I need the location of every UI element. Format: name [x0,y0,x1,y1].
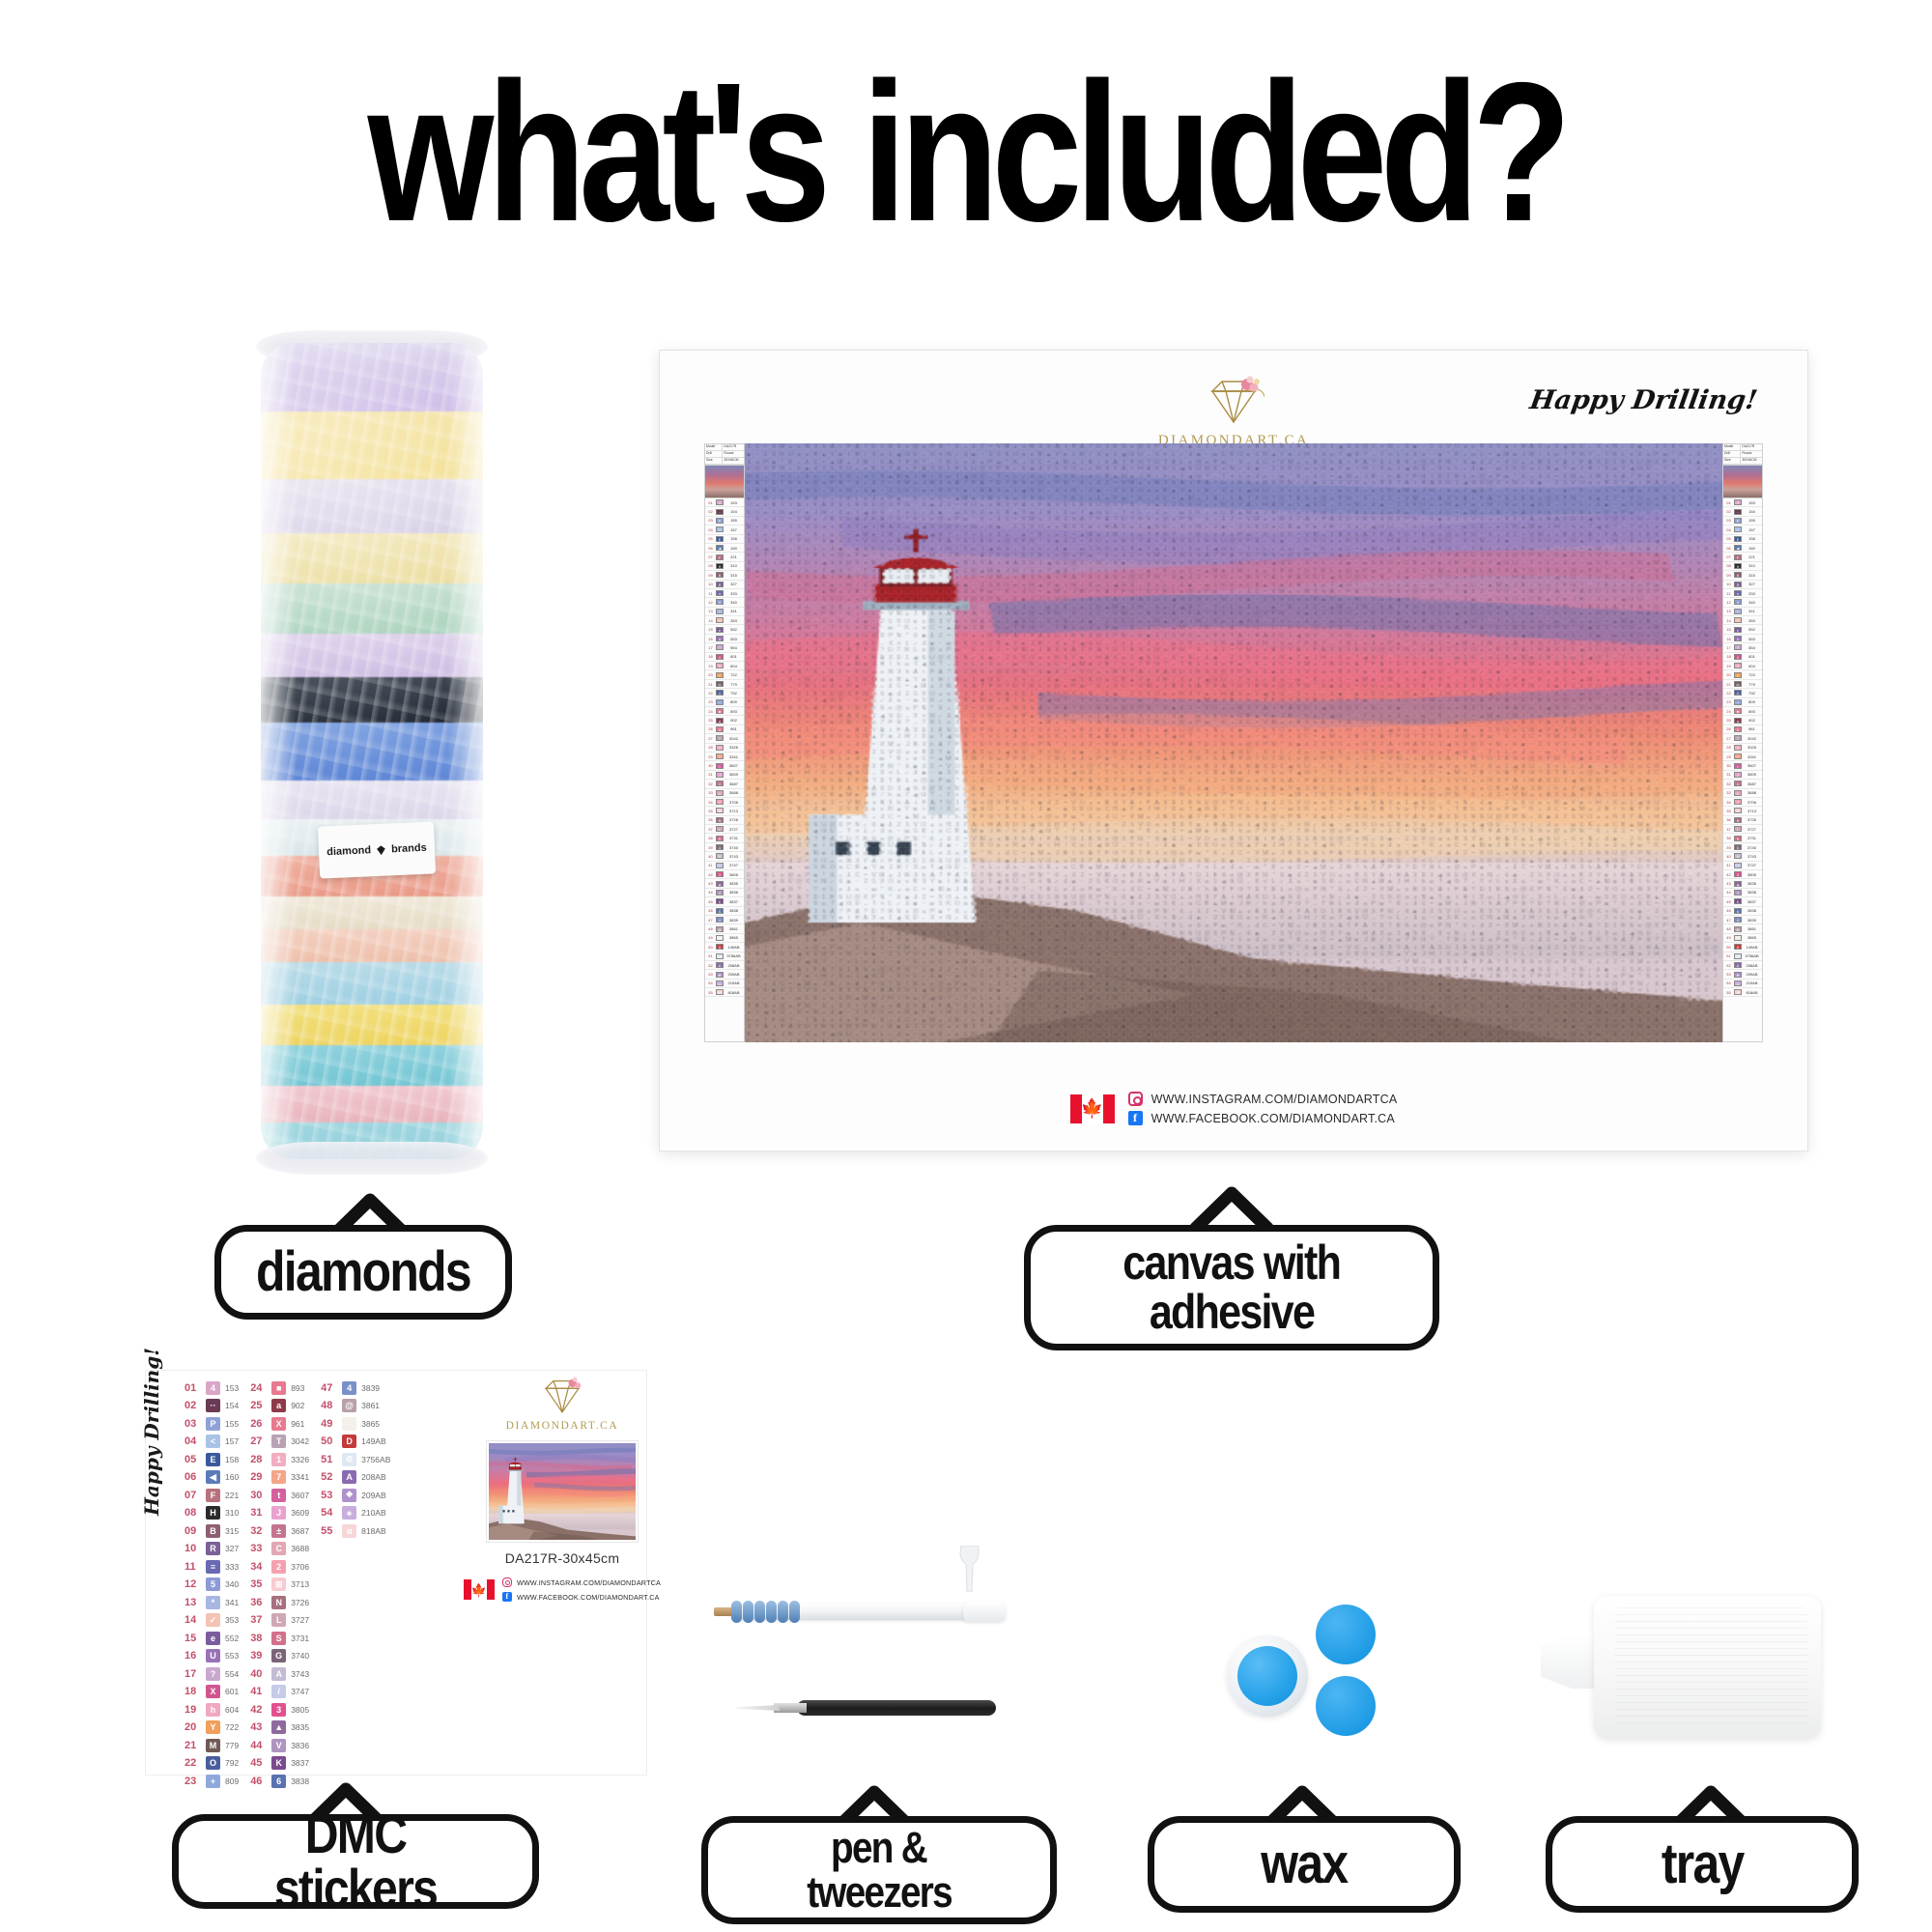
legend-row-swatch: ◀ [1734,545,1742,551]
dmc-row-code: 310 [225,1508,239,1518]
canvas-legend-row: 51⊘3756AB [705,952,744,961]
dmc-row-code: 340 [225,1579,239,1589]
legend-row-swatch: ⊘ [1734,953,1742,959]
legend-row-number: 25 [1723,718,1734,723]
legend-row-number: 52 [705,963,716,968]
canvas-legend-row: 55α818AB [705,988,744,997]
dmc-sticker-row: 18X601 [185,1685,239,1699]
legend-row-swatch: X [1734,654,1742,660]
canvas-legend-row: 33C3688 [1723,789,1762,798]
dmc-row-symbol-swatch: ? [206,1667,220,1681]
dmc-preview-image [487,1441,638,1542]
legend-row-swatch: ■ [1734,708,1742,714]
legend-row-swatch: - [716,935,724,941]
dmc-sticker-row: 32±3687 [250,1523,309,1538]
dmc-sticker-row: 014153 [185,1380,239,1395]
dmc-sticker-row: 03P155 [185,1416,239,1431]
canvas-legend-row: 54⚹210AB [705,980,744,988]
legend-row-swatch: ? [1734,644,1742,650]
legend-row-code: 3326 [724,745,744,750]
legend-row-code: 3688 [1742,790,1762,795]
dmc-row-number: 44 [250,1740,267,1751]
legend-row-code: 3688 [724,790,744,795]
legend-row-swatch: / [1734,863,1742,868]
legend-row-swatch: O [1734,690,1742,696]
dmc-sticker-row: 51⊘3756AB [321,1452,390,1466]
instagram-url: WWW.INSTAGRAM.COM/DIAMONDARTCA [1151,1093,1398,1106]
legend-row-number: 17 [705,645,716,650]
dmc-row-code: 153 [225,1383,239,1393]
legend-row-swatch: ± [1734,781,1742,786]
dmc-row-symbol-swatch: B [206,1524,220,1538]
dmc-row-code: 210AB [361,1508,386,1518]
legend-row-code: 3687 [724,781,744,786]
legend-row-number: 19 [1723,664,1734,668]
canvas-legend-row: 2973341 [705,753,744,761]
canvas-legend-row: 19h604 [1723,662,1762,670]
legend-row-swatch: 4 [1734,917,1742,923]
legend-row-swatch: ⊞ [716,808,724,813]
legend-row-number: 18 [1723,654,1734,659]
canvas-legend-row: 50D149AB [1723,943,1762,952]
legend-row-swatch: T [716,735,724,741]
legend-row-number: 53 [1723,972,1734,977]
legend-row-code: 893 [1742,709,1762,714]
legend-row-code: 722 [1742,672,1762,677]
legend-row-swatch: ✓ [716,617,724,623]
legend-row-number: 08 [1723,563,1734,568]
canvas-legend-row: 15e552 [705,625,744,634]
legend-row-number: 22 [1723,691,1734,696]
canvas-legend-row: 09B315 [1723,571,1762,580]
instagram-link[interactable]: WWW.INSTAGRAM.COM/DIAMONDARTCA [1128,1092,1398,1106]
legend-row-number: 23 [705,699,716,704]
legend-row-number: 42 [705,872,716,877]
dmc-row-symbol-swatch: ❖ [342,1489,356,1502]
canvas-legend-row: 2973341 [1723,753,1762,761]
legend-row-code: 340 [1742,600,1762,605]
dmc-row-symbol-swatch: ▲ [271,1720,286,1734]
legend-row-swatch: H [716,563,724,569]
legend-row-code: 341 [724,609,744,613]
legend-row-swatch: e [716,627,724,633]
dmc-row-number: 15 [185,1633,201,1644]
legend-row-code: 3805 [1742,872,1762,877]
dmc-sticker-row: 16U553 [185,1649,239,1663]
legend-row-code: 153 [724,500,744,505]
dmc-sticker-row: 02··154 [185,1399,239,1413]
callout-pen-label-line2: tweezers [807,1870,952,1915]
legend-row-swatch: ⊞ [1734,808,1742,813]
canvas-legend-row: 4743839 [705,916,744,924]
legend-row-swatch: X [716,654,724,660]
dmc-row-code: 3341 [291,1472,309,1482]
dmc-sticker-row: 53❖209AB [321,1488,390,1502]
legend-row-code: 553 [724,637,744,641]
legend-row-code: 155 [1742,518,1762,523]
dmc-sticker-row: 44V3836 [250,1738,309,1752]
legend-row-swatch: K [716,898,724,904]
canvas-legend-row: 36N3726 [1723,816,1762,825]
dmc-row-symbol-swatch: + [206,1775,220,1788]
facebook-link[interactable]: f WWW.FACEBOOK.COM/DIAMONDART.CA [1128,1111,1398,1125]
legend-row-swatch: h [1734,663,1742,668]
dmc-row-code: 154 [225,1401,239,1410]
dmc-row-number: 38 [250,1633,267,1644]
legend-row-swatch: 3 [716,871,724,877]
dmc-sticker-row: 39G3740 [250,1649,309,1663]
legend-row-code: 3609 [724,772,744,777]
instagram-url-dmc: WWW.INSTAGRAM.COM/DIAMONDARTCA [517,1578,661,1587]
legend-row-code: 3713 [724,809,744,813]
canvas-legend-row: 50D149AB [705,943,744,952]
dmc-sticker-row: 40A3743 [250,1666,309,1681]
dmc-row-number: 27 [250,1435,267,1447]
dmc-row-symbol-swatch: α [342,1524,356,1538]
legend-rows-right: 01415302··15403P15504<15705E15806◀16007F… [1723,498,1762,1041]
dmc-row-code: 221 [225,1491,239,1500]
canvas-legend-row: 19h604 [705,662,744,670]
dmc-row-symbol-swatch: E [206,1453,220,1466]
canvas-legend-row: 2813326 [1723,744,1762,753]
legend-row-swatch: K [1734,898,1742,904]
legend-row-code: 3835 [1742,881,1762,886]
legend-row-code: 3747 [1742,863,1762,867]
legend-row-number: 52 [1723,963,1734,968]
legend-row-swatch: < [1734,526,1742,532]
dmc-sticker-row: 20Y722 [185,1720,239,1735]
dmc-row-code: 3607 [291,1491,309,1500]
canvas-legend-row: 13*341 [705,608,744,616]
canvas-legend-row: 22O792 [1723,689,1762,697]
legend-row-code: 3726 [1742,817,1762,822]
legend-row-number: 01 [705,500,716,505]
dmc-row-code: 3837 [291,1758,309,1768]
dmc-sticker-row: 14✓353 [185,1613,239,1628]
canvas-legend-row: 49-3865 [705,934,744,943]
legend-row-swatch: 3 [1734,871,1742,877]
facebook-icon-dmc: f [502,1592,512,1602]
canvas-legend-right: ModelDA217R DrillRound Size30X45CM 01415… [1722,443,1763,1042]
legend-row-swatch: U [1734,636,1742,641]
legend-row-swatch: 4 [1734,499,1742,505]
legend-row-swatch: / [716,863,724,868]
legend-row-number: 20 [705,672,716,677]
legend-row-code: 818AB [1742,990,1762,995]
canvas-legend-row: 3423706 [1723,798,1762,807]
legend-row-number: 17 [1723,645,1734,650]
legend-row-swatch: 2 [716,799,724,805]
legend-row-swatch: B [716,572,724,578]
legend-row-code: 722 [724,672,744,677]
dmc-row-code: 3865 [361,1419,380,1429]
legend-row-code: 792 [1742,691,1762,696]
wax-jar [1227,1635,1308,1717]
legend-row-number: 47 [705,918,716,923]
legend-row-number: 39 [705,845,716,850]
canvas-legend-row: 22O792 [705,689,744,697]
canvas-legend-row: 02··154 [1723,507,1762,516]
dmc-row-symbol-swatch: L [271,1613,286,1627]
legend-thumbnail-right [1723,466,1762,498]
legend-rows-left: 01415302··15403P15504<15705E15806◀16007F… [705,498,744,1041]
legend-row-code: 601 [724,654,744,659]
dmc-row-symbol-swatch: 5 [206,1577,220,1591]
canvas-legend-row: 04<157 [1723,526,1762,534]
canvas-legend-row: 23+809 [1723,698,1762,707]
legend-row-number: 36 [1723,817,1734,822]
legend-row-number: 47 [1723,918,1734,923]
legend-row-number: 36 [705,817,716,822]
dmc-social-links: WWW.INSTAGRAM.COM/DIAMONDARTCA f WWW.FAC… [502,1577,661,1602]
bag-label-left-text: diamond [327,844,371,858]
canvas-legend-row: 39G3740 [705,843,744,852]
legend-row-swatch: R [716,582,724,587]
canvas-legend-row: 08H310 [1723,562,1762,571]
dmc-row-number: 20 [185,1721,201,1733]
canvas-legend-row: 17?554 [705,643,744,652]
canvas-legend-row: 45K3837 [705,897,744,906]
legend-row-number: 14 [705,618,716,623]
canada-flag-icon-dmc: 🍁 [464,1579,495,1600]
legend-row-number: 30 [705,763,716,768]
legend-row-code: 208AB [724,963,744,968]
legend-row-swatch: ◀ [716,545,724,551]
legend-row-number: 42 [1723,872,1734,877]
dmc-row-code: 333 [225,1562,239,1572]
legend-row-swatch: M [1734,681,1742,687]
legend-row-swatch: J [1734,772,1742,778]
maple-leaf-icon-dmc: 🍁 [471,1583,487,1596]
dmc-row-code: 3688 [291,1544,309,1553]
dmc-sticker-row: 04<157 [185,1435,239,1449]
legend-row-number: 26 [705,726,716,731]
canvas-legend-row: 32±3687 [1723,780,1762,788]
callout-dmc-label: DMC stickers [218,1807,493,1916]
legend-row-swatch: G [1734,844,1742,850]
dmc-row-symbol-swatch: ◀ [206,1470,220,1484]
legend-row-code: 3756AB [724,953,744,958]
dmc-row-number: 32 [250,1525,267,1537]
dmc-row-symbol-swatch: ± [271,1524,286,1538]
canvas-legend-row: 07F221 [705,553,744,561]
legend-row-number: 29 [705,754,716,759]
dmc-sticker-row: 11≡333 [185,1559,239,1574]
legend-row-swatch: ·· [1734,509,1742,515]
legend-row-swatch: U [716,636,724,641]
canvas-legend-row: 44V3836 [1723,889,1762,897]
legend-row-code: 818AB [724,990,744,995]
wax-set [1227,1599,1401,1763]
dmc-row-code: 209AB [361,1491,386,1500]
legend-header-right: ModelDA217R DrillRound Size30X45CM [1723,444,1762,466]
dmc-sticker-row: 125340 [185,1577,239,1592]
legend-row-swatch: 1 [716,745,724,751]
legend-row-swatch: N [1734,817,1742,823]
legend-row-code: 341 [1742,609,1762,613]
legend-row-code: 3731 [724,836,744,840]
legend-row-number: 34 [705,800,716,805]
legend-row-number: 35 [705,809,716,813]
dmc-row-symbol-swatch: ≡ [206,1560,220,1574]
legend-row-swatch: A [716,853,724,859]
dmc-sticker-row: 3423706 [250,1559,309,1574]
legend-row-swatch: V [1734,890,1742,895]
canvas-legend-row: 20Y722 [705,670,744,679]
dmc-row-symbol-swatch: 6 [271,1775,286,1788]
dmc-row-number: 14 [185,1614,201,1626]
legend-row-number: 46 [1723,908,1734,913]
legend-row-code: 209AB [724,972,744,977]
legend-row-code: 3341 [724,754,744,759]
legend-row-number: 55 [705,990,716,995]
instagram-link-dmc[interactable]: WWW.INSTAGRAM.COM/DIAMONDARTCA [502,1577,661,1587]
canvas-legend-row: 31J3609 [1723,771,1762,780]
legend-row-number: 03 [705,518,716,523]
dmc-row-symbol-swatch: 7 [271,1470,286,1484]
dmc-sticker-row: 49-3865 [321,1416,390,1431]
dmc-row-number: 52 [321,1471,337,1483]
dmc-row-number: 05 [185,1454,201,1465]
dmc-sticker-row: 36N3726 [250,1595,309,1609]
legend-row-code: 353 [1742,618,1762,623]
dmc-sticker-row: 06◀160 [185,1470,239,1485]
legend-row-code: 210AB [724,980,744,985]
legend-row-swatch: e [1734,627,1742,633]
legend-row-swatch: 7 [1734,753,1742,759]
legend-row-number: 24 [1723,709,1734,714]
legend-row-code: 3835 [724,881,744,886]
legend-row-code: 3726 [724,817,744,822]
dmc-row-number: 04 [185,1435,201,1447]
legend-row-number: 39 [1723,845,1734,850]
canvas-legend-row: 26X961 [705,725,744,734]
dmc-row-symbol-swatch: C [271,1542,286,1555]
legend-row-number: 38 [1723,836,1734,840]
callout-canvas-label-line2: adhesive [1150,1288,1314,1337]
legend-row-swatch: α [716,989,724,995]
legend-thumbnail-left [705,466,744,498]
dmc-row-number: 31 [250,1507,267,1519]
legend-row-code: 3865 [724,935,744,940]
legend-header-left: ModelDA217R DrillRound Size30X45CM [705,444,744,466]
dmc-row-code: 3743 [291,1669,309,1679]
legend-row-number: 49 [705,935,716,940]
canvas-legend-row: 04<157 [705,526,744,534]
canvas-legend-row: 30t3607 [705,761,744,770]
legend-row-code: 3837 [724,899,744,904]
legend-row-number: 07 [705,554,716,559]
legend-row-swatch: D [716,944,724,950]
canvas-legend-row: 05E158 [705,535,744,544]
dmc-row-number: 24 [250,1382,267,1394]
legend-row-code: 554 [724,645,744,650]
legend-row-number: 04 [705,527,716,532]
legend-row-code: 208AB [1742,963,1762,968]
dmc-sticker-row: 15e552 [185,1631,239,1645]
dmc-row-symbol-swatch: H [206,1506,220,1520]
canvas-legend-row: 26X961 [1723,725,1762,734]
dmc-row-number: 41 [250,1686,267,1697]
legend-row-code: 157 [724,527,744,532]
instagram-icon-dmc [502,1577,512,1587]
legend-row-code: 554 [1742,645,1762,650]
dmc-row-symbol-swatch: R [206,1542,220,1555]
dmc-sticker-row: 2813326 [250,1452,309,1466]
legend-row-swatch: ≡ [716,590,724,596]
legend-row-number: 09 [1723,573,1734,578]
canvas-legend-row: 43▲3835 [1723,879,1762,888]
dmc-happy-drilling-text: Happy Drilling! [140,1284,163,1516]
canvas-legend-row: 09B315 [705,571,744,580]
legend-row-number: 21 [1723,682,1734,687]
legend-row-code: 3836 [1742,890,1762,895]
canvas-legend-row: 18X601 [705,653,744,662]
legend-row-code: 3756AB [1742,953,1762,958]
legend-row-code: 604 [1742,664,1762,668]
dmc-row-number: 29 [250,1471,267,1483]
legend-row-swatch: P [1734,518,1742,524]
canvas-legend-row: 52A208AB [1723,961,1762,970]
canvas-legend-row: 25a902 [1723,716,1762,724]
dmc-row-symbol-swatch: * [206,1596,220,1609]
facebook-url-dmc: WWW.FACEBOOK.COM/DIAMONDART.CA [517,1593,660,1602]
legend-row-swatch: a [716,718,724,724]
facebook-link-dmc[interactable]: f WWW.FACEBOOK.COM/DIAMONDART.CA [502,1592,661,1602]
canvas-legend-row: 03P155 [705,517,744,526]
dmc-row-code: 818AB [361,1526,386,1536]
legend-row-number: 41 [705,863,716,867]
legend-row-swatch: @ [716,926,724,932]
legend-row-code: 3861 [1742,926,1762,931]
legend-row-number: 15 [1723,627,1734,632]
canvas-legend-row: 38S3731 [705,834,744,842]
canvas-legend-row: 13*341 [1723,608,1762,616]
legend-row-number: 11 [705,591,716,596]
legend-row-code: 153 [1742,500,1762,505]
dmc-sticker-row: 35⊞3713 [250,1577,309,1592]
dmc-sticker-row: 05E158 [185,1452,239,1466]
dmc-sticker-row: 30t3607 [250,1488,309,1502]
legend-row-swatch: * [716,609,724,614]
legend-row-code: 3727 [1742,827,1762,832]
maple-leaf-icon: 🍁 [1081,1099,1104,1118]
legend-row-swatch: t [1734,763,1742,769]
callout-pen-label-line1: pen & [832,1826,927,1870]
dmc-row-number: 39 [250,1650,267,1662]
legend-row-code: 902 [1742,718,1762,723]
legend-row-code: 779 [1742,682,1762,687]
legend-row-number: 27 [1723,736,1734,741]
legend-row-code: 310 [1742,563,1762,568]
dmc-row-number: 37 [250,1614,267,1626]
dmc-row-code: 3839 [361,1383,380,1393]
dmc-row-number: 40 [250,1668,267,1680]
dmc-sticker-row: 25a902 [250,1399,309,1413]
dmc-row-symbol-swatch: F [206,1489,220,1502]
legend-row-number: 18 [705,654,716,659]
dmc-row-code: 3731 [291,1634,309,1643]
legend-row-swatch: 5 [716,599,724,605]
canvas-legend-row: 52A208AB [705,961,744,970]
canvas-legend-row: 05E158 [1723,535,1762,544]
legend-row-swatch: G [716,844,724,850]
canvas-legend-row: 014153 [1723,498,1762,507]
canvas-legend-row: 15e552 [1723,625,1762,634]
dmc-row-number: 45 [250,1757,267,1769]
dmc-row-number: 19 [185,1704,201,1716]
dmc-sticker-row: 10R327 [185,1542,239,1556]
